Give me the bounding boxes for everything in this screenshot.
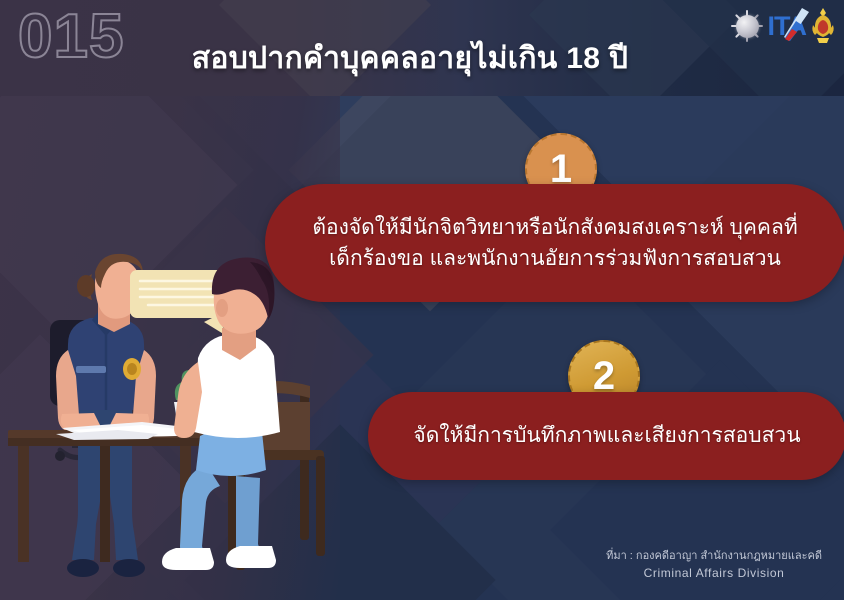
source-credit-thai: ที่มา : กองคดีอาญา สำนักงานกฎหมายและคดี [606, 548, 822, 565]
infographic-poster: 015 สอบปากคำบุคคลอายุไม่เกิน 18 ปี ITA [0, 0, 844, 600]
thai-royal-crest-icon [810, 7, 836, 45]
logo-group: ITA [730, 4, 837, 48]
step-card-2-text: จัดให้มีการบันทึกภาพและเสียงการสอบสวน [413, 420, 800, 452]
ita-swoosh-icon [780, 7, 810, 43]
slide-number: 015 [18, 6, 124, 68]
source-credit: ที่มา : กองคดีอาญา สำนักงานกฎหมายและคดี … [606, 548, 822, 583]
step-card-1: ต้องจัดให้มีนักจิตวิทยาหรือนักสังคมสงเคร… [265, 184, 844, 302]
step-card-2: จัดให้มีการบันทึกภาพและเสียงการสอบสวน [368, 392, 844, 480]
step-card-1-text: ต้องจัดให้มีนักจิตวิทยาหรือนักสังคมสงเคร… [303, 212, 807, 275]
globe-emblem-icon [730, 9, 764, 43]
desk [8, 430, 204, 562]
globe-ball [736, 15, 759, 38]
ita-logo: ITA [768, 9, 807, 43]
source-credit-english: Criminal Affairs Division [606, 564, 822, 582]
illustration-police-interview [0, 250, 340, 600]
page-title: สอบปากคำบุคคลอายุไม่เกิน 18 ปี [130, 42, 690, 75]
